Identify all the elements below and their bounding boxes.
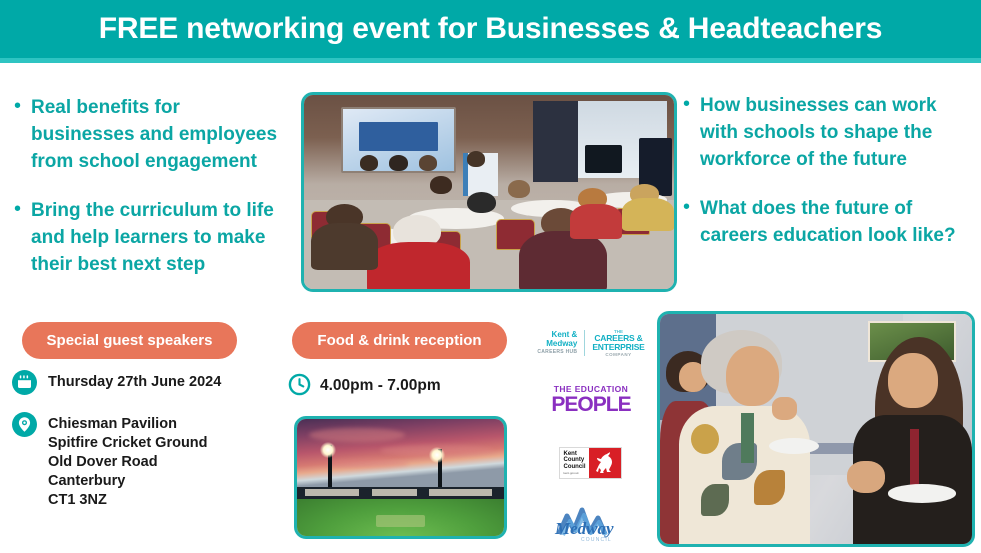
photo-person-head (430, 176, 452, 193)
photo-stand-lit (305, 489, 359, 496)
photo-person-head (360, 155, 379, 171)
education-people-logo: THE EDUCATION PEOPLE (541, 382, 641, 418)
bullet-text: Real benefits for businesses and employe… (31, 94, 286, 175)
location-line: Chiesman Pavilion (48, 416, 177, 432)
event-date-text: Thursday 27th June 2024 (48, 370, 221, 392)
location-line: Old Dover Road (48, 454, 158, 470)
photo-person-face (726, 346, 779, 406)
photo-curtain (533, 101, 555, 182)
photo-pitch (376, 515, 426, 527)
bullet-dot-icon: • (14, 197, 21, 222)
photo-hand (847, 461, 884, 493)
photo-stand-lit (429, 489, 491, 496)
logo-line: ENTERPRISE (592, 343, 644, 352)
bullet-text: Bring the curriculum to life and help le… (31, 197, 286, 278)
logo-line: CAREERS HUB (537, 348, 577, 356)
kent-medway-careers-hub-logo: Kent & Medway CAREERS HUB (537, 330, 585, 356)
list-item: • Real benefits for businesses and emplo… (14, 94, 286, 175)
list-item: • What does the future of careers educat… (683, 195, 971, 249)
photo-pattern (701, 484, 729, 516)
careers-hub-and-cec-logo: Kent & Medway CAREERS HUB THE CAREERS & … (532, 326, 650, 360)
photo-plate (888, 484, 957, 502)
page-title: FREE networking event for Businesses & H… (99, 12, 882, 46)
photo-stand-lit (372, 489, 418, 496)
logo-line: kent.gov.uk (564, 471, 586, 475)
logo-line: Kent & (537, 330, 577, 339)
photo-person-body (570, 204, 622, 239)
logo-text-block: Kent County Council kent.gov.uk (560, 448, 589, 479)
bullet-dot-icon: • (683, 92, 690, 117)
photo-tv (585, 145, 622, 172)
cricket-ground-photo (294, 416, 507, 539)
bullet-dot-icon: • (14, 94, 21, 119)
event-poster: FREE networking event for Businesses & H… (0, 0, 981, 553)
kent-county-council-logo: Kent County Council kent.gov.uk (556, 444, 624, 482)
bullet-list-left: • Real benefits for businesses and emplo… (14, 94, 286, 300)
photo-cloud (326, 459, 409, 468)
logo-box: Kent County Council kent.gov.uk (559, 447, 622, 480)
location-line: Canterbury (48, 473, 125, 489)
photo-person-head (508, 180, 530, 197)
list-item: • How businesses can work with schools t… (683, 92, 971, 173)
special-guest-speakers-badge: Special guest speakers (22, 322, 237, 359)
header-band: FREE networking event for Businesses & H… (0, 0, 981, 58)
location-line: Spitfire Cricket Ground (48, 435, 208, 451)
photo-person-head (419, 155, 438, 171)
photo-curtain (556, 101, 578, 182)
photo-person-body (622, 198, 674, 231)
event-time-row: 4.00pm - 7.00pm (287, 372, 441, 402)
logo-line: County (564, 457, 586, 464)
kent-white-horse-icon (589, 448, 621, 479)
networking-photo (657, 311, 975, 547)
bullet-text: How businesses can work with schools to … (700, 92, 971, 173)
event-time-text: 4.00pm - 7.00pm (320, 372, 441, 395)
photo-person-body (367, 242, 471, 292)
careers-enterprise-company-logo: THE CAREERS & ENTERPRISE COMPANY (585, 329, 644, 357)
photo-person-body (311, 223, 378, 270)
list-item: • Bring the curriculum to life and help … (14, 197, 286, 278)
conference-room-photo (301, 92, 677, 292)
svg-text:COUNCIL: COUNCIL (581, 537, 612, 543)
bullet-list-right: • How businesses can work with schools t… (683, 92, 971, 271)
photo-slide (359, 122, 439, 151)
photo-lanyard (741, 413, 753, 464)
photo-person-body (519, 231, 608, 292)
logo-line: PEOPLE (551, 394, 630, 416)
logo-line: COMPANY (592, 352, 644, 357)
location-line: CT1 3NZ (48, 492, 107, 508)
map-pin-icon (12, 412, 37, 442)
event-date-row: Thursday 27th June 2024 (12, 370, 221, 400)
logo-line: Medway (537, 339, 577, 348)
food-drink-reception-badge: Food & drink reception (292, 322, 507, 359)
photo-hand (772, 397, 797, 420)
event-location-text: Chiesman Pavilion Spitfire Cricket Groun… (48, 412, 208, 510)
calendar-icon (12, 370, 37, 400)
logo-line: Council (564, 464, 586, 471)
partner-logos: Kent & Medway CAREERS HUB THE CAREERS & … (527, 322, 652, 547)
photo-person-head (467, 151, 486, 167)
event-location-row: Chiesman Pavilion Spitfire Cricket Groun… (12, 412, 208, 510)
medway-council-logo: Medway COUNCIL (541, 504, 641, 544)
photo-pattern (754, 470, 785, 505)
header-underline (0, 58, 981, 63)
bullet-dot-icon: • (683, 195, 690, 220)
clock-icon (287, 372, 312, 402)
svg-text:Medway: Medway (554, 519, 614, 538)
photo-person-head (389, 155, 408, 171)
photo-person-face (888, 353, 938, 408)
bullet-text: What does the future of careers educatio… (700, 195, 971, 249)
photo-person-head (467, 192, 497, 213)
